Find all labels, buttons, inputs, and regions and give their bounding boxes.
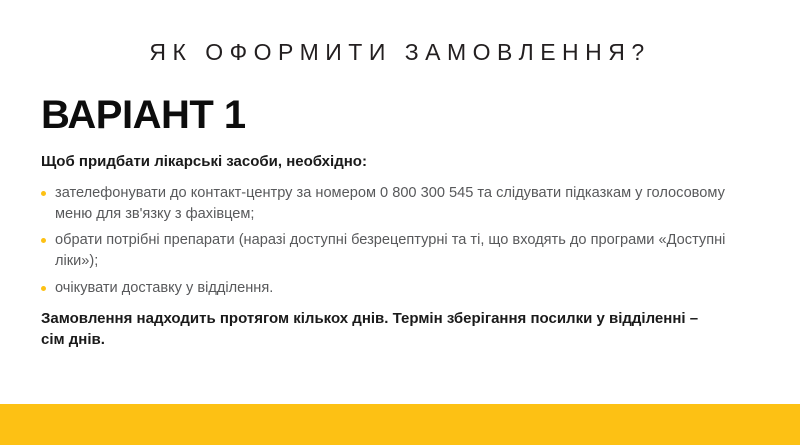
bullet-dot-icon [41,286,46,291]
list-item: обрати потрібні препарати (наразі доступ… [41,230,741,271]
instruction-list: зателефонувати до контакт-центру за номе… [41,183,741,305]
list-item-text: очікувати доставку у відділення. [55,280,273,296]
list-item: зателефонувати до контакт-центру за номе… [41,183,741,224]
bullet-dot-icon [41,191,46,196]
list-item: очікувати доставку у відділення. [41,278,741,299]
closing-note: Замовлення надходить протягом кількох дн… [41,309,721,350]
bullet-dot-icon [41,238,46,243]
slide-canvas: ЯК ОФОРМИТИ ЗАМОВЛЕННЯ? ВАРІАНТ 1 Щоб пр… [0,0,800,445]
slide-kicker-heading: ЯК ОФОРМИТИ ЗАМОВЛЕННЯ? [0,40,800,65]
list-item-text: обрати потрібні препарати (наразі доступ… [55,232,725,269]
lead-paragraph: Щоб придбати лікарські засоби, необхідно… [41,152,741,172]
list-item-text: зателефонувати до контакт-центру за номе… [55,185,725,222]
bottom-accent-bar [0,404,800,445]
page-title: ВАРІАНТ 1 [41,94,246,136]
